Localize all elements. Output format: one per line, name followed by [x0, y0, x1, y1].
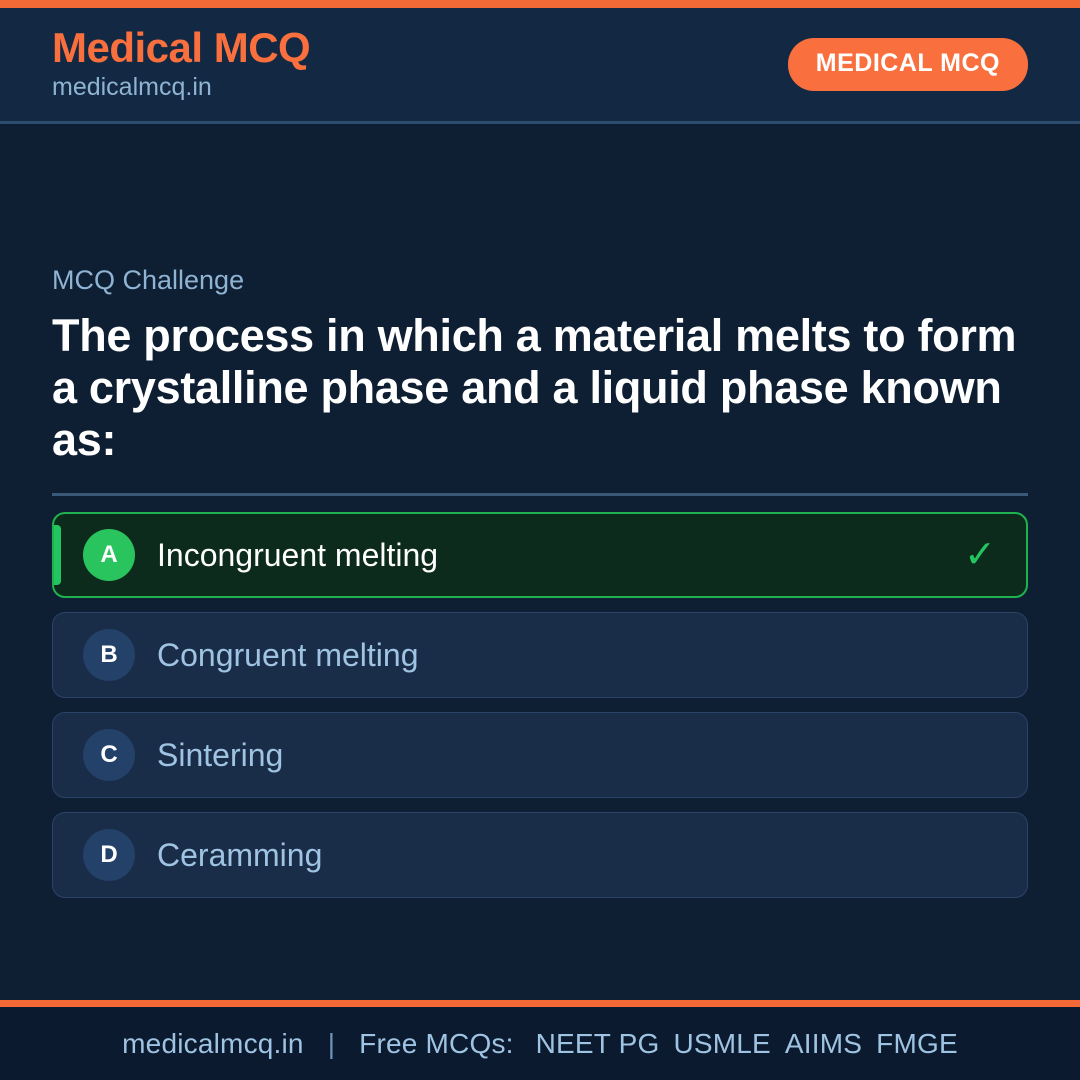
option-label: Incongruent melting	[157, 538, 964, 573]
option-d[interactable]: DCeramming✓	[52, 812, 1028, 898]
header: Medical MCQ medicalmcq.in MEDICAL MCQ	[0, 8, 1080, 124]
option-b[interactable]: BCongruent melting✓	[52, 612, 1028, 698]
mcq-card: Medical MCQ medicalmcq.in MEDICAL MCQ MC…	[0, 0, 1080, 1080]
header-badge[interactable]: MEDICAL MCQ	[788, 38, 1028, 91]
footer: medicalmcq.in | Free MCQs: NEET PGUSMLEA…	[0, 1000, 1080, 1080]
option-label: Sintering	[157, 738, 965, 773]
option-letter-badge: C	[83, 729, 135, 781]
question-text: The process in which a material melts to…	[52, 310, 1028, 467]
option-label: Congruent melting	[157, 638, 965, 673]
top-accent-bar	[0, 0, 1080, 8]
bottom-spacer	[52, 898, 1028, 1000]
footer-exam: NEET PG	[536, 1028, 660, 1059]
footer-exam: AIIMS	[785, 1028, 862, 1059]
check-icon: ✓	[964, 536, 996, 574]
footer-separator: |	[312, 1028, 351, 1059]
option-label: Ceramming	[157, 838, 965, 873]
footer-exam: USMLE	[673, 1028, 770, 1059]
option-letter-badge: B	[83, 629, 135, 681]
option-a[interactable]: AIncongruent melting✓	[52, 512, 1028, 598]
brand-title: Medical MCQ	[52, 26, 310, 71]
option-letter-badge: D	[83, 829, 135, 881]
top-spacer	[52, 124, 1028, 266]
footer-site[interactable]: medicalmcq.in	[122, 1028, 304, 1059]
footer-free-label: Free MCQs:	[359, 1028, 513, 1059]
main-content: MCQ Challenge The process in which a mat…	[0, 124, 1080, 1000]
brand: Medical MCQ medicalmcq.in	[52, 26, 310, 104]
question-divider	[52, 493, 1028, 496]
option-letter-badge: A	[83, 529, 135, 581]
footer-text: medicalmcq.in | Free MCQs: NEET PGUSMLEA…	[122, 1028, 958, 1060]
footer-exam-list: NEET PGUSMLEAIIMSFMGE	[522, 1028, 958, 1059]
option-c[interactable]: CSintering✓	[52, 712, 1028, 798]
options-list: AIncongruent melting✓BCongruent melting✓…	[52, 510, 1028, 898]
footer-exam: FMGE	[876, 1028, 958, 1059]
brand-url: medicalmcq.in	[52, 72, 310, 103]
kicker-label: MCQ Challenge	[52, 266, 1028, 296]
